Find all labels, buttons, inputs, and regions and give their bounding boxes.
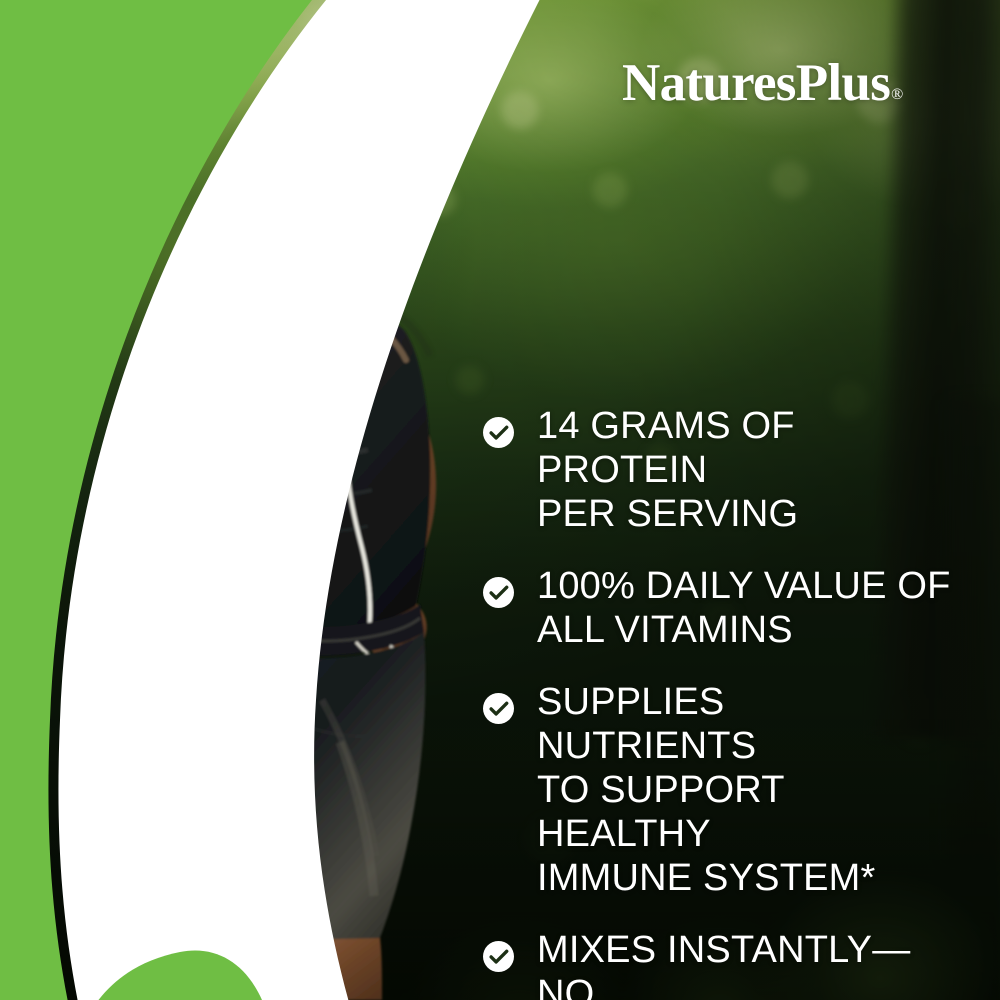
benefit-item-vitamins: 100% DAILY VALUE OF ALL VITAMINS <box>483 564 953 652</box>
check-circle-icon <box>483 577 514 608</box>
check-circle-icon <box>483 941 514 972</box>
logo-wordmark: NaturesPlus <box>622 54 890 112</box>
benefit-text: SUPPLIES NUTRIENTS TO SUPPORT HEALTHY IM… <box>537 680 953 900</box>
benefit-item-immune: SUPPLIES NUTRIENTS TO SUPPORT HEALTHY IM… <box>483 680 953 900</box>
benefits-list: 14 GRAMS OF PROTEIN PER SERVING 100% DAI… <box>483 404 953 1000</box>
benefit-text: 14 GRAMS OF PROTEIN PER SERVING <box>537 404 953 536</box>
check-circle-icon <box>483 693 514 724</box>
registered-trademark-icon: ® <box>891 86 902 103</box>
benefit-text: 100% DAILY VALUE OF ALL VITAMINS <box>537 564 953 652</box>
benefit-item-mixability: MIXES INSTANTLY—NO BLENDER REQUIRED <box>483 928 953 1000</box>
benefit-text: MIXES INSTANTLY—NO BLENDER REQUIRED <box>537 928 953 1000</box>
naturesplus-logo: NaturesPlus® <box>622 52 972 114</box>
check-circle-icon <box>483 417 514 448</box>
promo-banner: NaturesPlus® 14 GRAMS OF PROTEIN PER SER… <box>0 0 1000 1000</box>
benefit-item-protein: 14 GRAMS OF PROTEIN PER SERVING <box>483 404 953 536</box>
